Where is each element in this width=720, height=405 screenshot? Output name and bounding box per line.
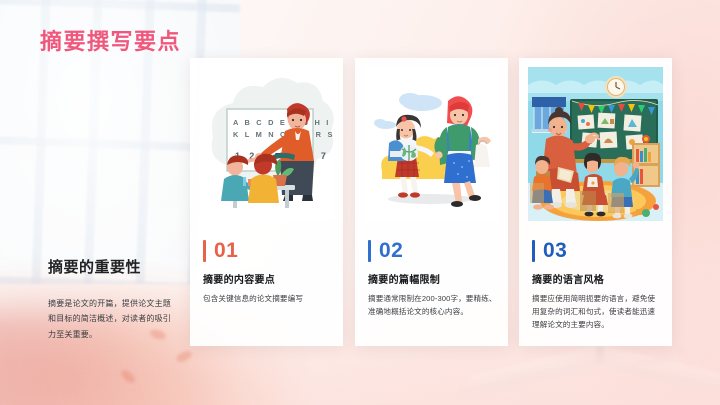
left-body-text: 摘要是论文的开篇，提供论文主题和目标的简洁概述，对读者的吸引力至关重要。 [48,296,176,343]
card-03-description: 摘要应使用简明扼要的语言，避免使用复杂的词汇和句式，使读者能迅速理解论文的主要内… [532,292,662,331]
content-card-01[interactable]: A B C D E F G H I J K L M N O P Q R S 1 … [190,58,343,346]
card-03-accent-bar [532,240,535,262]
card-01-number-row: 01 [203,238,333,264]
page-title: 摘要撰写要点 [40,24,181,56]
card-02-accent-bar [368,240,371,262]
card-02-number-row: 02 [368,238,498,264]
card-01-number: 01 [214,239,238,263]
card-01-title: 摘要的内容要点 [203,271,333,286]
card-03-number-row: 03 [532,238,662,264]
left-heading: 摘要的重要性 [48,258,176,279]
card-03-title: 摘要的语言风格 [532,271,662,286]
card-02-description: 摘要通常限制在200-300字，要精练、准确地概括论文的核心内容。 [368,292,498,318]
card-03-body: 03 摘要的语言风格 摘要应使用简明扼要的语言，避免使用复杂的词汇和句式，使读者… [532,238,662,331]
left-summary-block: 摘要的重要性 摘要是论文的开篇，提供论文主题和目标的简洁概述，对读者的吸引力至关… [48,258,176,342]
svg-text:A B C D E F G H I J: A B C D E F G H I J [233,118,334,127]
card-02-body: 02 摘要的篇幅限制 摘要通常限制在200-300字，要精练、准确地概括论文的核… [368,238,498,318]
card-03-number: 03 [543,239,567,263]
card-01-accent-bar [203,240,206,262]
card-02-title: 摘要的篇幅限制 [368,271,498,286]
content-card-03[interactable]: 03 摘要的语言风格 摘要应使用简明扼要的语言，避免使用复杂的词汇和句式，使读者… [519,58,672,346]
card-02-number: 02 [379,239,403,263]
card-01-illustration: A B C D E F G H I J K L M N O P Q R S 1 … [199,67,334,221]
content-card-02[interactable]: 02 摘要的篇幅限制 摘要通常限制在200-300字，要精练、准确地概括论文的核… [355,58,508,346]
card-01-body: 01 摘要的内容要点 包含关键信息的论文摘要编写 [203,238,333,305]
card-03-illustration [528,67,663,221]
card-01-description: 包含关键信息的论文摘要编写 [203,292,333,305]
card-02-illustration [364,67,499,221]
